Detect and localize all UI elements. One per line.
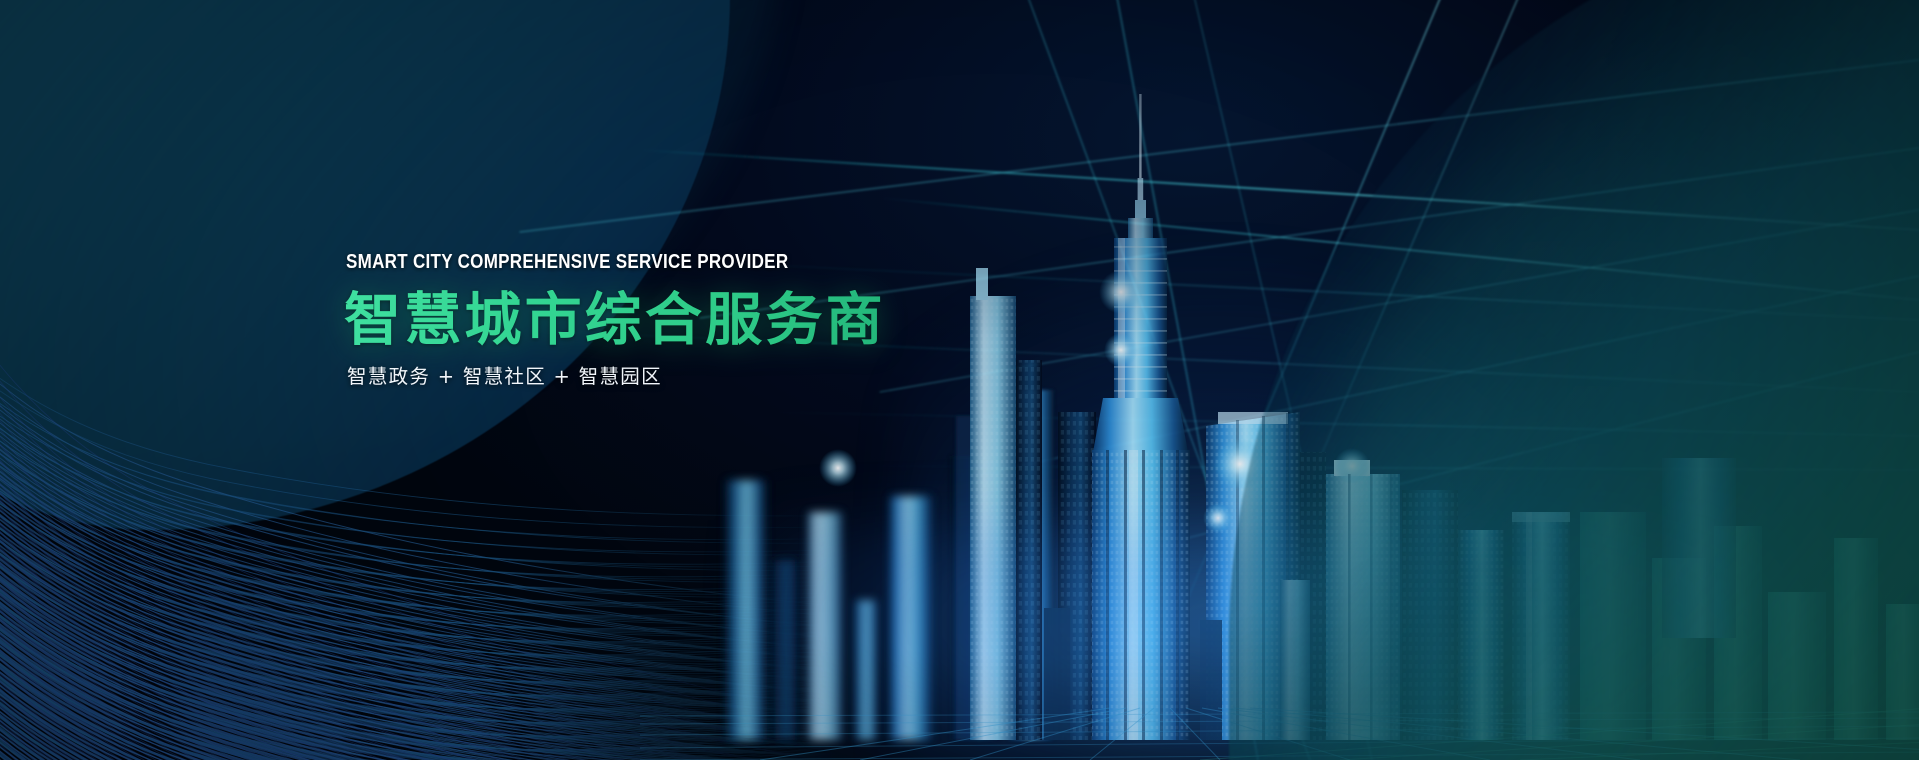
hero-subline-services: 智慧政务 + 智慧社区 + 智慧园区 — [347, 367, 1064, 387]
hero-headline-chinese: 智慧城市综合服务商 — [344, 290, 1064, 352]
hero-banner: SMART CITY COMPREHENSIVE SERVICE PROVIDE… — [0, 0, 1919, 760]
hero-eyebrow-english: SMART CITY COMPREHENSIVE SERVICE PROVIDE… — [346, 252, 942, 273]
hero-copy-block: SMART CITY COMPREHENSIVE SERVICE PROVIDE… — [344, 252, 1064, 387]
